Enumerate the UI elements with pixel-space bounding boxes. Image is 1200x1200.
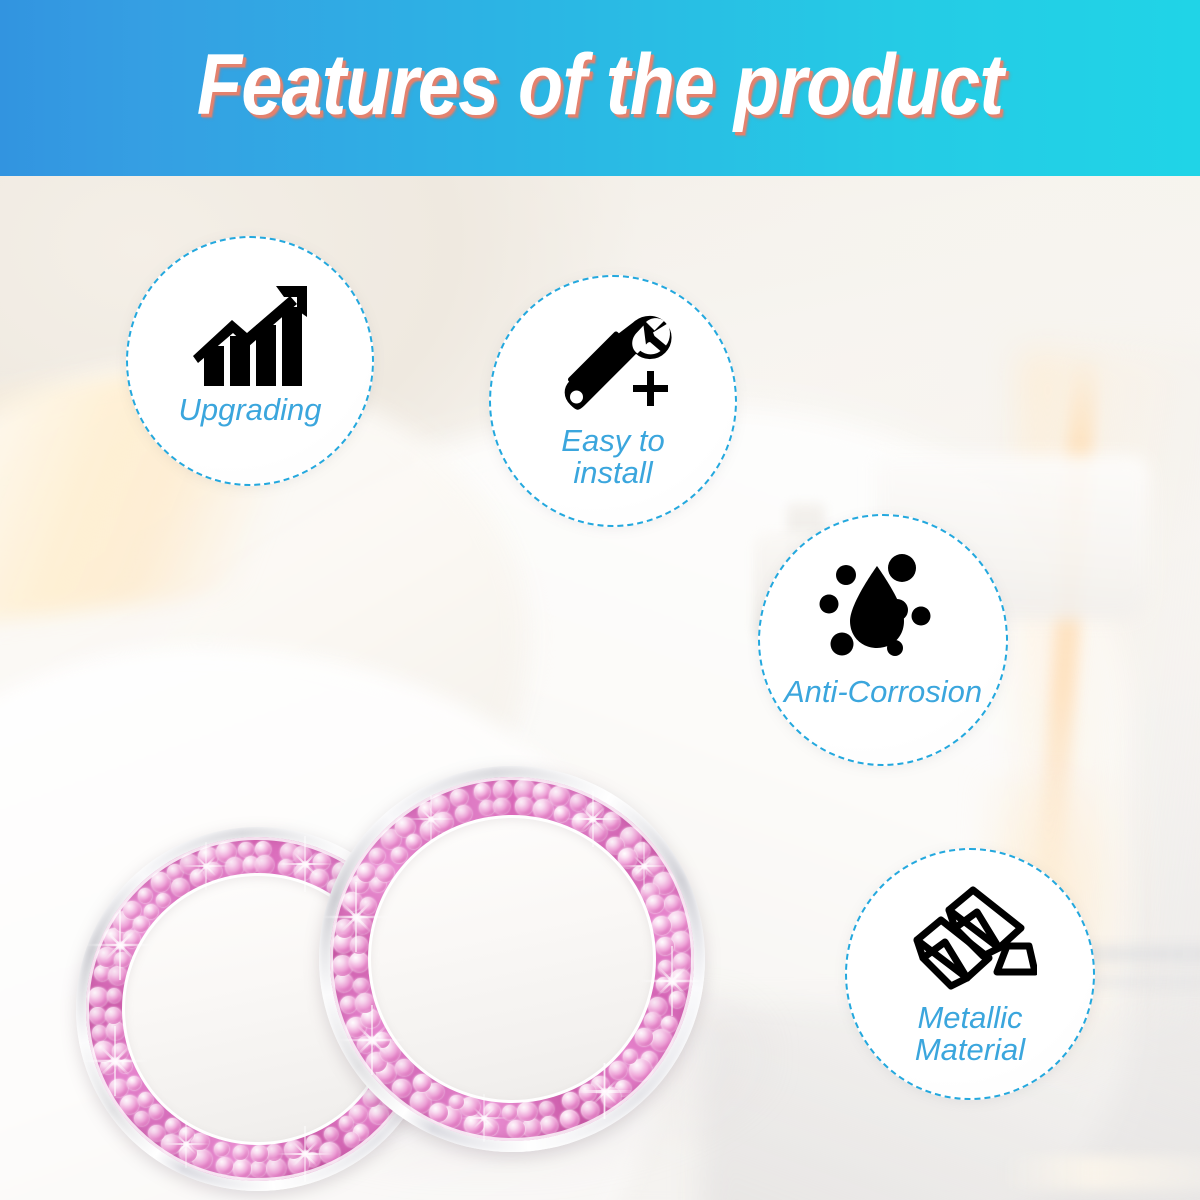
crystal-stone xyxy=(294,863,311,880)
crystal-stone xyxy=(284,1140,303,1159)
crystal-stone xyxy=(652,916,672,936)
crystal-stone xyxy=(251,1145,267,1161)
product-feature-infographic: Features of the product xyxy=(0,0,1200,1200)
crystal-stone xyxy=(507,1120,525,1138)
crystal-stone xyxy=(392,1079,410,1097)
crystal-stone xyxy=(350,936,368,954)
crystal-band xyxy=(330,777,695,1142)
crystal-stone xyxy=(233,1159,252,1178)
crystal-stone xyxy=(581,1101,599,1119)
crystal-stone xyxy=(474,783,491,800)
crystal-stone xyxy=(216,1157,233,1174)
crystal-stone xyxy=(493,780,512,799)
crystal-stone xyxy=(391,847,406,862)
bar-chart-growth-arrow-icon xyxy=(185,284,315,388)
crystal-stone xyxy=(238,842,253,857)
crystal-stone xyxy=(357,1036,374,1053)
feature-badge-easy-install[interactable]: Easy to install xyxy=(489,275,737,527)
crystal-stone xyxy=(335,919,354,938)
crystal-stone xyxy=(413,1074,431,1092)
crystal-stone xyxy=(138,888,153,903)
crystal-stone xyxy=(250,1161,266,1177)
crystal-stone xyxy=(354,916,372,934)
ring-inner-hole xyxy=(368,815,656,1103)
crystal-stone xyxy=(88,987,108,1007)
crystal-stone xyxy=(549,786,569,806)
crystal-stone xyxy=(112,1043,129,1060)
crystal-stone xyxy=(540,1116,558,1134)
crystal-stone xyxy=(266,1158,286,1178)
crystal-stone xyxy=(319,1142,340,1163)
feature-badge-anti-corrosion-label: Anti-Corrosion xyxy=(784,676,982,708)
crystal-stone xyxy=(233,1145,248,1160)
crystal-stone xyxy=(156,893,170,907)
crystal-stone xyxy=(138,1092,153,1107)
crystal-stone xyxy=(522,1118,541,1137)
ring-front-right xyxy=(319,766,705,1152)
feature-badge-upgrading[interactable]: Upgrading xyxy=(126,236,374,486)
crystal-stone xyxy=(369,1105,388,1124)
crystal-stone xyxy=(670,969,691,990)
crystal-stone xyxy=(324,1127,338,1141)
crystal-stone xyxy=(134,1111,149,1126)
crystal-stone xyxy=(118,1059,132,1073)
crystal-stone xyxy=(255,855,274,874)
crystal-stone xyxy=(97,947,116,966)
crystal-stone xyxy=(360,897,376,913)
crystal-stone xyxy=(656,977,671,992)
crystal-stone xyxy=(93,1041,114,1062)
crystal-stone xyxy=(92,1025,108,1041)
crystal-stone xyxy=(369,848,385,864)
crystal-stone xyxy=(106,1021,125,1040)
crystal-stone xyxy=(632,866,647,881)
crystal-stone xyxy=(644,1012,662,1030)
metal-ingot-bars-icon xyxy=(903,884,1037,992)
feature-badge-easy-install-label: Easy to install xyxy=(561,425,664,488)
crystal-stone xyxy=(148,1125,164,1141)
feature-badge-metallic-material-label: Metallic Material xyxy=(915,1002,1025,1065)
crystal-stone xyxy=(635,1028,652,1045)
crystal-stone xyxy=(278,859,294,875)
crystal-stone xyxy=(656,937,674,955)
crystal-stone xyxy=(579,1084,595,1100)
crystal-stone xyxy=(214,1142,228,1156)
crystal-stone xyxy=(515,797,533,815)
crystal-stone xyxy=(450,789,468,807)
crystal-stone xyxy=(464,1115,483,1134)
crystal-stone xyxy=(353,978,368,993)
header-banner: Features of the product xyxy=(0,0,1200,176)
crystal-stone xyxy=(114,952,129,967)
feature-badge-anti-corrosion[interactable]: Anti-Corrosion xyxy=(758,514,1008,766)
crystal-stone xyxy=(344,1132,359,1147)
page-title: Features of the product xyxy=(84,0,1116,176)
crystal-stone xyxy=(650,1029,672,1051)
crystal-stone xyxy=(455,805,472,822)
crystal-stone xyxy=(374,1032,390,1048)
crystal-stone xyxy=(484,1103,500,1119)
crystal-stone xyxy=(107,988,122,1003)
crystal-stone xyxy=(658,960,673,975)
crystal-stone xyxy=(554,806,570,822)
crystal-stone xyxy=(144,904,158,918)
crystal-stone xyxy=(671,931,691,951)
crystal-stone xyxy=(339,1116,353,1130)
crystal-stone xyxy=(293,846,311,864)
crystal-stone xyxy=(342,892,362,912)
crystal-stone xyxy=(502,1105,517,1120)
crystal-stone xyxy=(313,853,330,870)
crystal-stone xyxy=(539,1101,554,1116)
feature-badge-metallic-material[interactable]: Metallic Material xyxy=(845,848,1095,1100)
crystal-stone xyxy=(664,895,681,912)
crystal-stone xyxy=(120,1095,139,1114)
crystal-stone xyxy=(406,834,421,849)
crystal-stone xyxy=(646,895,664,913)
crystal-stone xyxy=(266,1144,283,1161)
crystal-stone xyxy=(127,1076,141,1090)
crystal-stone xyxy=(609,1061,627,1079)
crystal-stone xyxy=(560,1110,579,1129)
crystal-stone xyxy=(533,783,551,801)
crystal-stone xyxy=(89,1007,106,1024)
crystal-stone xyxy=(149,1104,163,1118)
crystal-stone xyxy=(165,1118,180,1133)
screwdriver-wrench-plus-icon xyxy=(550,309,676,421)
crystal-stone xyxy=(570,794,587,811)
crystal-stone xyxy=(562,1092,579,1109)
crystal-stone xyxy=(669,991,686,1008)
water-droplet-dots-icon xyxy=(817,552,949,664)
crystal-stone xyxy=(572,813,590,831)
crystal-stone xyxy=(429,1103,448,1122)
crystal-stone xyxy=(517,1102,537,1122)
crystal-stone xyxy=(349,952,369,972)
crystal-stone xyxy=(493,798,510,815)
feature-badge-upgrading-label: Upgrading xyxy=(178,394,321,426)
